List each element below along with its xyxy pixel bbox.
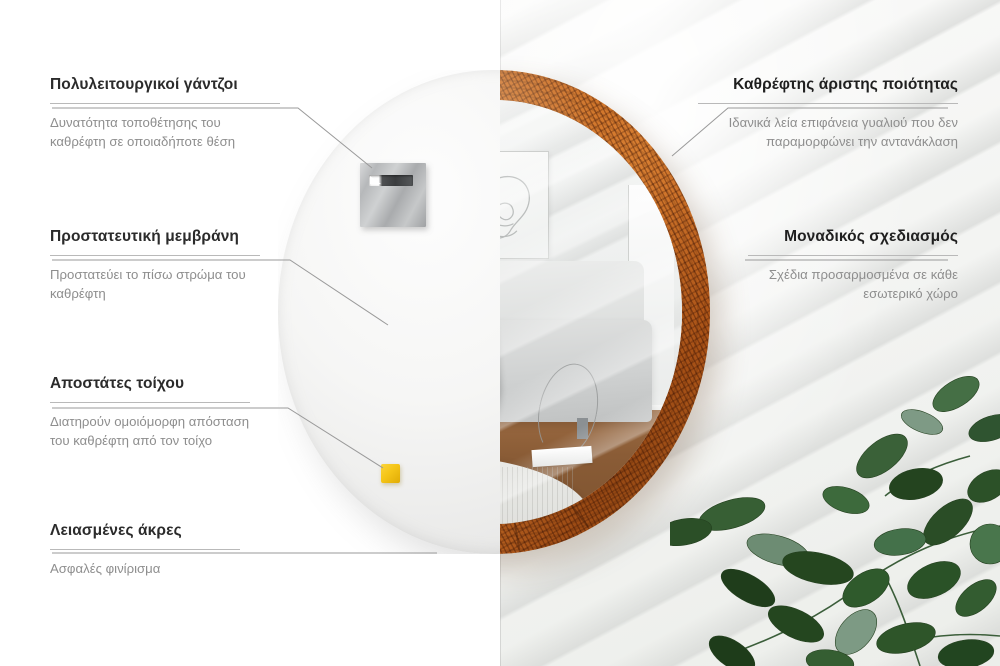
feature-smoothed-edges-title: Λειασμένες άκρες <box>50 522 240 540</box>
infographic-canvas: Πολυλειτουργικοί γάντζοι Δυνατότητα τοπο… <box>0 0 1000 666</box>
mirror-glass <box>500 100 682 524</box>
feature-membrane-title: Προστατευτική μεμβράνη <box>50 228 260 246</box>
feature-top-quality-mirror-title: Καθρέφτης άριστης ποιότητας <box>698 76 958 94</box>
feature-wall-spacers: Αποστάτες τοίχου Διατηρούν ομοιόμορφη απ… <box>50 375 250 450</box>
hanger-slot-icon <box>369 175 413 186</box>
feature-hooks-description: Δυνατότητα τοποθέτησης του καθρέφτη σε ο… <box>50 113 280 151</box>
feature-smoothed-edges: Λειασμένες άκρες Ασφαλές φινίρισμα <box>50 522 240 578</box>
feature-unique-design-description: Σχέδια προσαρμοσμένα σε κάθε εσωτερικό χ… <box>748 265 958 303</box>
feature-unique-design-rule <box>748 255 958 256</box>
feature-top-quality-mirror: Καθρέφτης άριστης ποιότητας Ιδανικά λεία… <box>698 76 958 151</box>
feature-top-quality-mirror-rule <box>698 103 958 104</box>
reflected-room <box>500 100 682 524</box>
feature-wall-spacers-description: Διατηρούν ομοιόμορφη απόσταση του καθρέφ… <box>50 412 250 450</box>
hanger-plate <box>360 163 426 227</box>
wall-spacer-pad <box>381 464 400 483</box>
eucalyptus-branch-foreground <box>670 336 1000 666</box>
line-art-face-icon <box>500 152 548 258</box>
feature-wall-spacers-rule <box>50 402 250 403</box>
feature-hooks-rule <box>50 103 280 104</box>
feature-wall-spacers-title: Αποστάτες τοίχου <box>50 375 250 393</box>
feature-hooks-title: Πολυλειτουργικοί γάντζοι <box>50 76 280 94</box>
feature-top-quality-mirror-description: Ιδανικά λεία επιφάνεια γυαλιού που δεν π… <box>698 113 958 151</box>
feature-unique-design: Μοναδικός σχεδιασμός Σχέδια προσαρμοσμέν… <box>748 228 958 303</box>
feature-smoothed-edges-description: Ασφαλές φινίρισμα <box>50 559 240 578</box>
feature-unique-design-title: Μοναδικός σχεδιασμός <box>748 228 958 246</box>
feature-membrane-rule <box>50 255 260 256</box>
feature-membrane-description: Προστατεύει το πίσω στρώμα του καθρέφτη <box>50 265 260 303</box>
feature-hooks: Πολυλειτουργικοί γάντζοι Δυνατότητα τοπο… <box>50 76 280 151</box>
feature-smoothed-edges-rule <box>50 549 240 550</box>
feature-membrane: Προστατευτική μεμβράνη Προστατεύει το πί… <box>50 228 260 303</box>
reflected-framed-art <box>500 151 549 259</box>
